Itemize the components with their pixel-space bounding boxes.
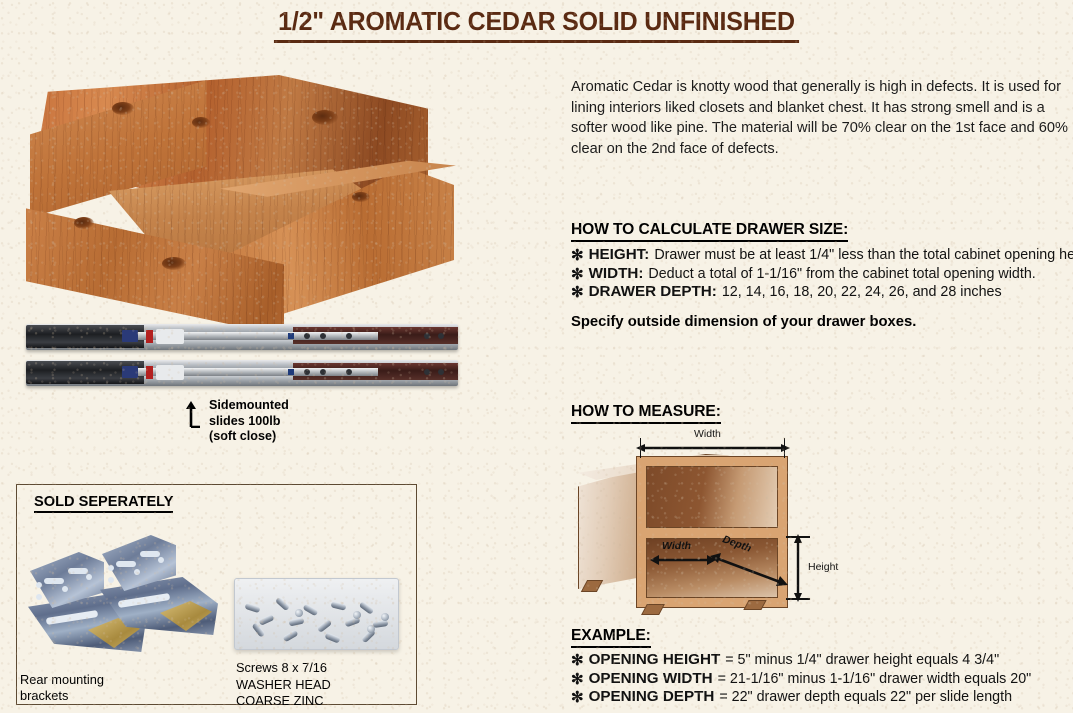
example-list: ✻ OPENING HEIGHT = 5" minus 1/4" drawer …: [571, 651, 1073, 707]
page-title: 1/2" AROMATIC CEDAR SOLID UNFINISHED: [21, 6, 1051, 43]
wood-knot: [192, 117, 210, 128]
list-item-key: OPENING WIDTH: [589, 670, 713, 689]
slides-callout-line3: (soft close): [209, 429, 289, 445]
width-inner-label: Width: [662, 540, 691, 552]
depth-dimension-arrow: [710, 550, 788, 590]
asterisk-bullet-icon: ✻: [571, 690, 584, 705]
drawer-slide: [26, 324, 458, 350]
wood-knot: [312, 110, 338, 125]
list-item-value: = 5" minus 1/4" drawer height equals 4 3…: [725, 651, 999, 670]
inner-width-dimension-arrow: [650, 554, 716, 566]
sold-separately-heading: SOLD SEPERATELY: [34, 494, 173, 510]
slides-callout-line2: slides 100lb: [209, 414, 289, 430]
wood-knot: [352, 192, 370, 202]
specify-note: Specify outside dimension of your drawer…: [571, 314, 916, 330]
example-heading: EXAMPLE:: [571, 627, 651, 645]
list-item-value: 12, 14, 16, 18, 20, 22, 24, 26, and 28 i…: [722, 283, 1002, 302]
screws-caption: Screws 8 x 7/16 WASHER HEAD COARSE ZINC: [236, 660, 331, 710]
up-arrow-icon: [185, 400, 201, 428]
list-item: ✻ OPENING WIDTH = 21-1/16" minus 1-1/16"…: [571, 670, 1073, 689]
height-dimension-arrow: [792, 534, 804, 602]
list-item-key: OPENING HEIGHT: [589, 651, 721, 670]
drawer-slide: [26, 360, 458, 386]
list-item-key: WIDTH:: [589, 265, 644, 284]
page-title-text: 1/2" AROMATIC CEDAR SOLID UNFINISHED: [274, 6, 798, 43]
product-description: Aromatic Cedar is knotty wood that gener…: [571, 77, 1071, 159]
list-item-key: DRAWER DEPTH:: [589, 283, 717, 302]
list-item-value: = 21-1/16" minus 1-1/16" drawer width eq…: [718, 670, 1032, 689]
cabinet-upper-opening: [646, 466, 778, 528]
list-item-value: Drawer must be at least 1/4" less than t…: [654, 246, 1073, 265]
wood-knot: [162, 257, 186, 270]
list-item-key: HEIGHT:: [589, 246, 650, 265]
list-item: ✻ WIDTH: Deduct a total of 1-1/16" from …: [571, 265, 1073, 284]
asterisk-bullet-icon: ✻: [571, 248, 584, 263]
asterisk-bullet-icon: ✻: [571, 672, 584, 687]
cabinet-leg: [641, 604, 665, 615]
list-item-key: OPENING DEPTH: [589, 688, 715, 707]
list-item-value: = 22" drawer depth equals 22" per slide …: [719, 688, 1012, 707]
measure-heading: HOW TO MEASURE:: [571, 403, 721, 421]
screws-bag: [234, 578, 399, 650]
slides-callout-text: Sidemounted slides 100lb (soft close): [209, 398, 289, 445]
rear-mounting-bracket: [100, 535, 220, 640]
list-item: ✻ HEIGHT: Drawer must be at least 1/4" l…: [571, 246, 1073, 265]
wood-knot: [74, 217, 94, 229]
list-item: ✻ DRAWER DEPTH: 12, 14, 16, 18, 20, 22, …: [571, 283, 1073, 302]
bracket-caption: Rear mounting brackets: [20, 672, 104, 704]
calculate-heading: HOW TO CALCULATE DRAWER SIZE:: [571, 221, 848, 239]
drawer-slides-photo: [4, 318, 466, 400]
asterisk-bullet-icon: ✻: [571, 653, 584, 668]
wood-knot: [112, 102, 134, 115]
slides-callout-line1: Sidemounted: [209, 398, 289, 414]
asterisk-bullet-icon: ✻: [571, 285, 584, 300]
width-dimension-arrow: [636, 442, 790, 454]
list-item: ✻ OPENING HEIGHT = 5" minus 1/4" drawer …: [571, 651, 1073, 670]
asterisk-bullet-icon: ✻: [571, 267, 584, 282]
calculate-list: ✻ HEIGHT: Drawer must be at least 1/4" l…: [571, 246, 1073, 302]
cedar-drawer-box-photo: [12, 62, 452, 310]
cabinet-leg: [743, 600, 766, 610]
cabinet-measure-diagram: Width Width Depth Height: [570, 432, 870, 610]
height-label: Height: [808, 561, 838, 573]
list-item-value: Deduct a total of 1-1/16" from the cabin…: [648, 265, 1035, 284]
width-top-label: Width: [694, 428, 721, 440]
list-item: ✻ OPENING DEPTH = 22" drawer depth equal…: [571, 688, 1073, 707]
